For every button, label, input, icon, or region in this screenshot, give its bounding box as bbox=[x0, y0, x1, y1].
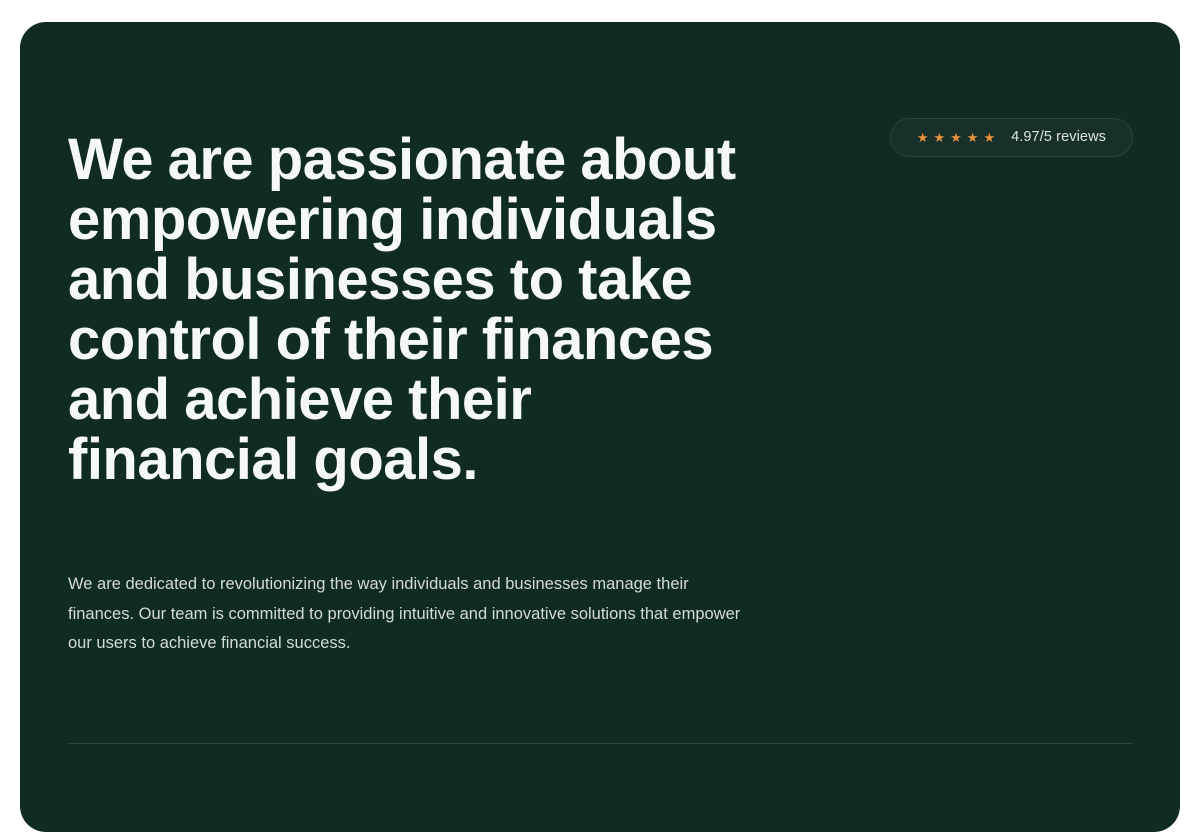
hero-subcopy: We are dedicated to revolutionizing the … bbox=[68, 570, 748, 659]
section-divider bbox=[68, 743, 1133, 744]
star-icon-4: ★ bbox=[967, 131, 979, 144]
rating-badge-label: 4.97/5 reviews bbox=[1011, 130, 1106, 145]
rating-badge[interactable]: ★ ★ ★ ★ ★ 4.97/5 reviews bbox=[890, 118, 1133, 157]
hero-content-column: ★ ★ ★ ★ ★ 4.97/5 reviews We are passiona… bbox=[68, 22, 1133, 832]
star-icon-3: ★ bbox=[950, 131, 962, 144]
star-rating-group: ★ ★ ★ ★ ★ bbox=[917, 131, 995, 144]
star-icon-2: ★ bbox=[933, 131, 945, 144]
hero-card: ★ ★ ★ ★ ★ 4.97/5 reviews We are passiona… bbox=[20, 22, 1180, 832]
hero-headline: We are passionate about empowering indiv… bbox=[68, 130, 768, 490]
star-icon-1: ★ bbox=[917, 131, 929, 144]
star-icon-5: ★ bbox=[983, 131, 995, 144]
